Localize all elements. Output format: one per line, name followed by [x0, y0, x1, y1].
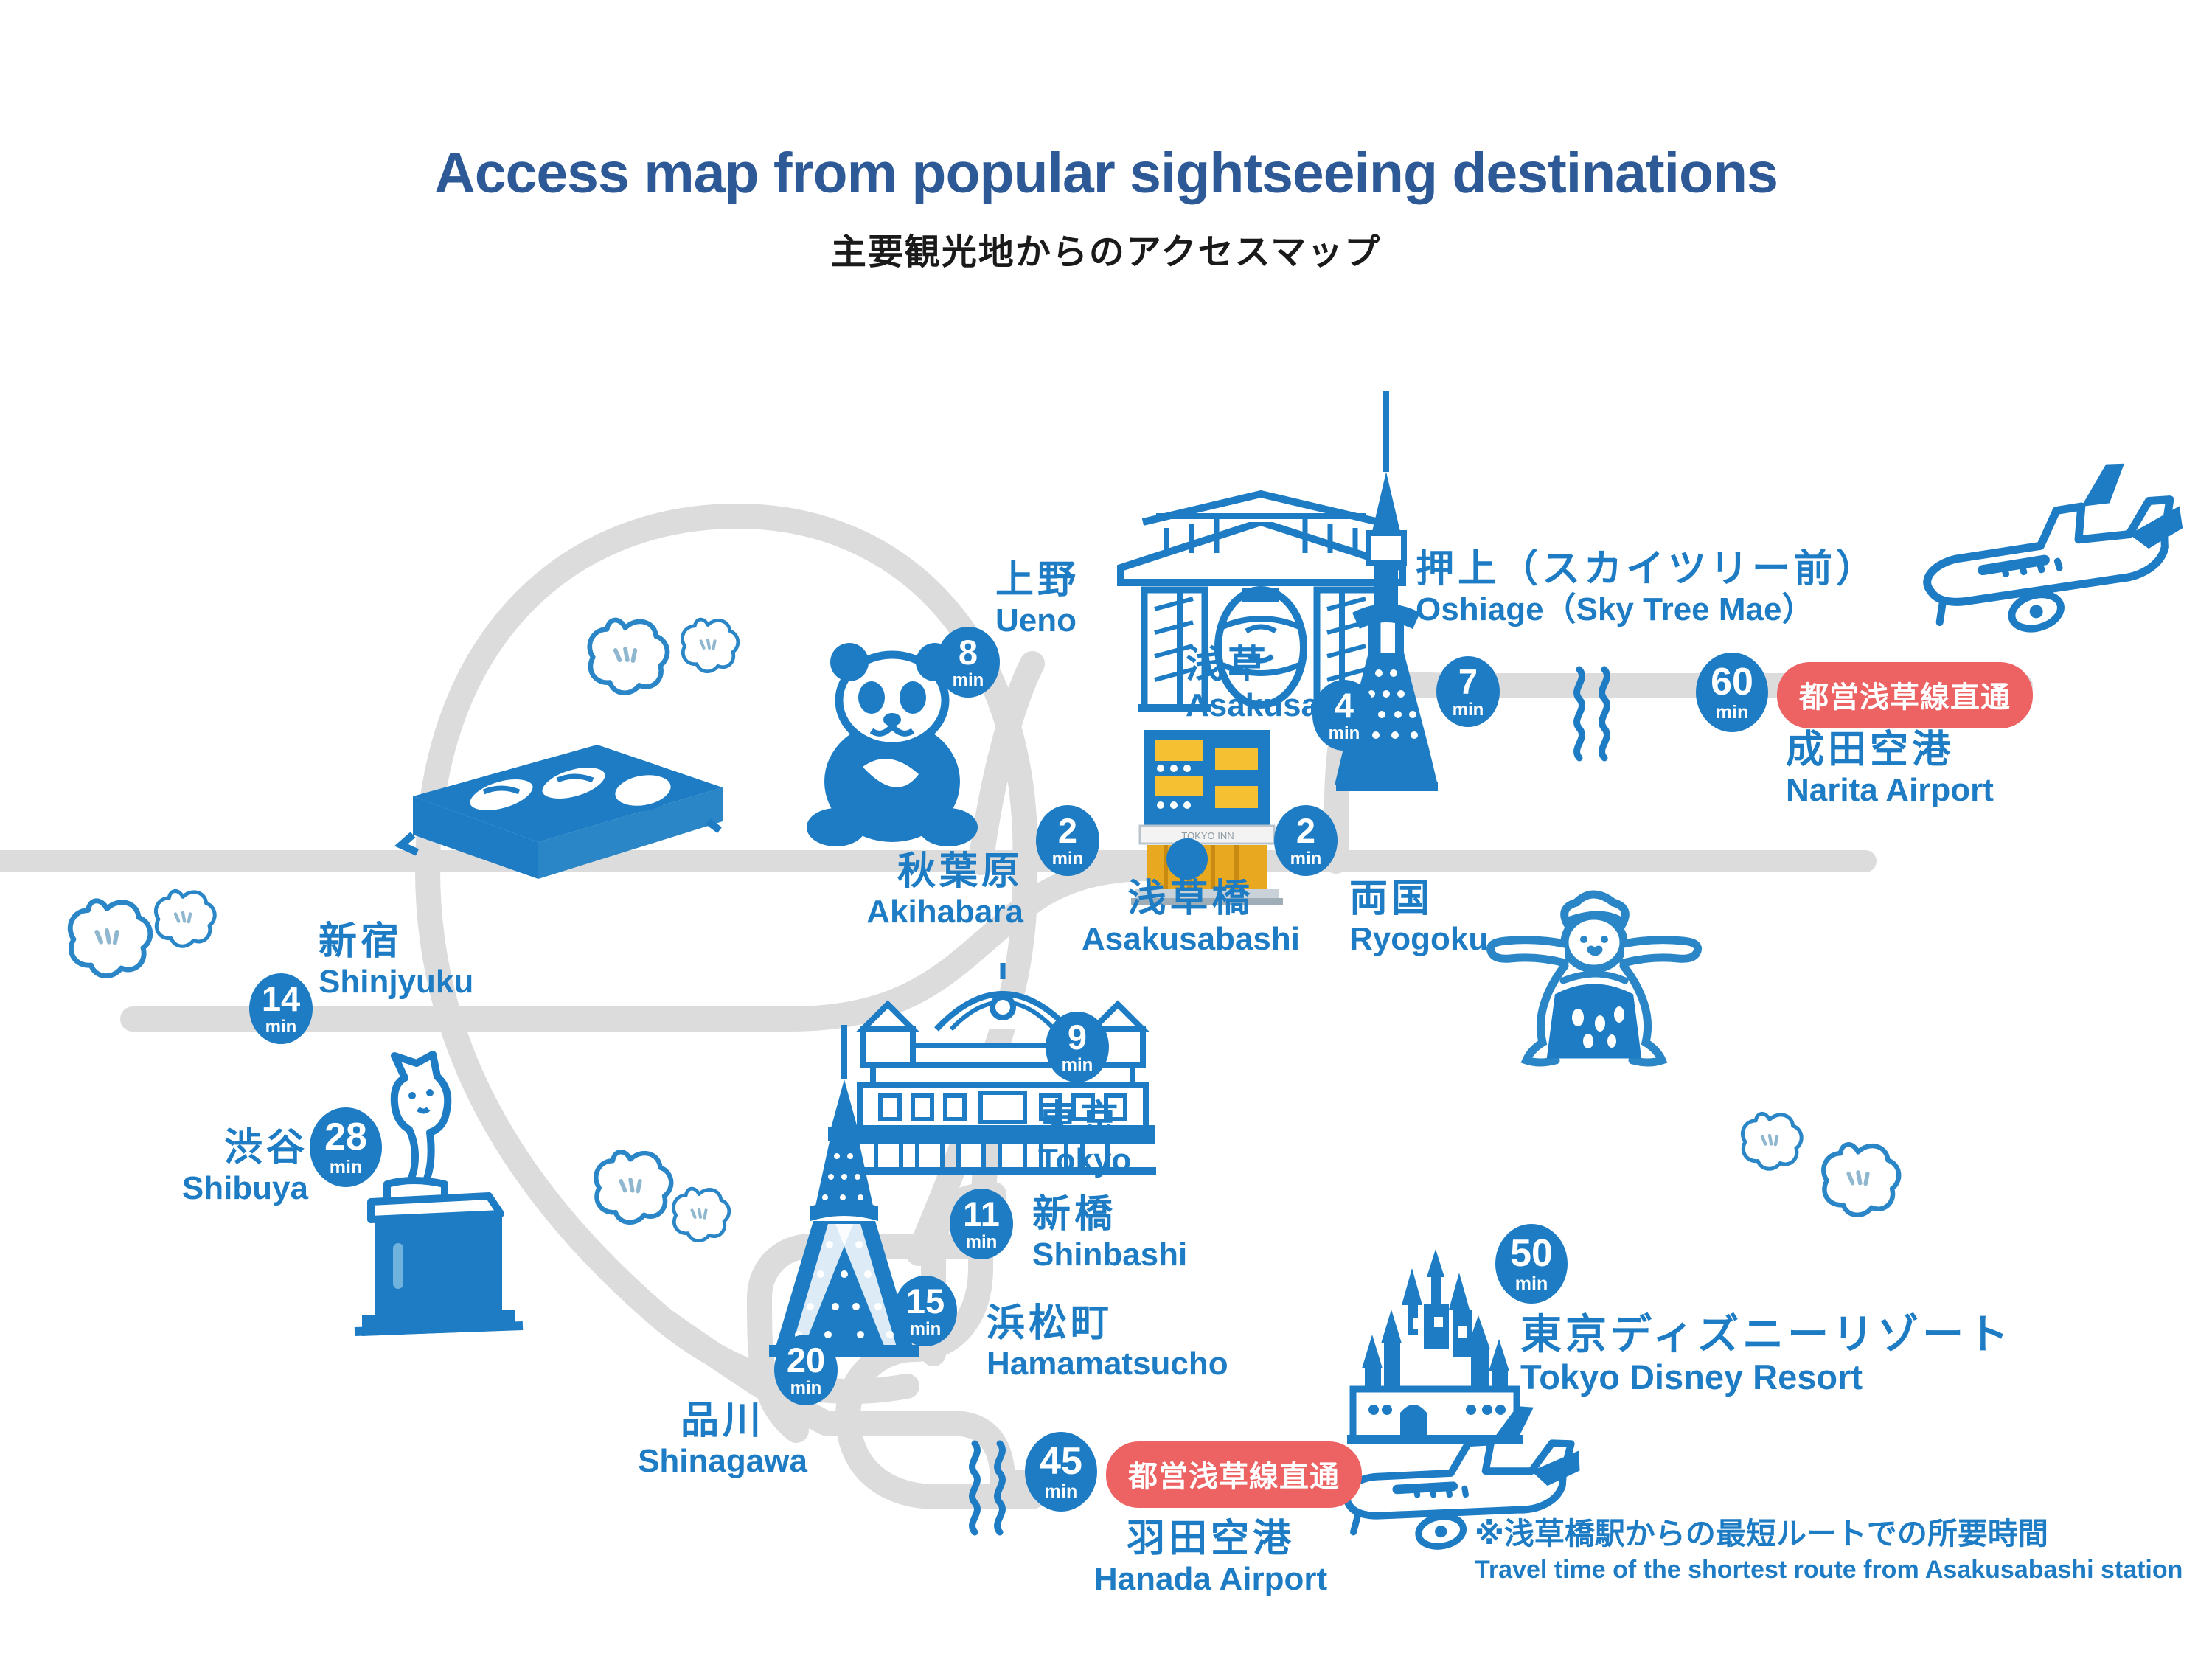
station-label-haneda[interactable]: 羽田空港 Hanada Airport: [1063, 1519, 1358, 1597]
time-badge-unit: min: [1290, 850, 1322, 868]
station-jp-name: 押上（スカイツリー前）: [1416, 549, 1878, 590]
station-label-ryogoku[interactable]: 両国 Ryogoku: [1349, 879, 1488, 957]
station-en-name: Ueno: [995, 604, 1079, 639]
station-en-name: Asakusa: [1186, 689, 1319, 723]
time-badge-shinjyuku[interactable]: 14 min: [249, 973, 313, 1044]
station-label-asakusa[interactable]: 浅草 Asakusa: [1186, 645, 1319, 723]
time-badge-shinagawa[interactable]: 20 min: [774, 1335, 838, 1405]
time-badge-unit: min: [1329, 725, 1360, 742]
time-badge-value: 7: [1458, 664, 1478, 699]
station-en-name: Shinjyuku: [319, 965, 473, 1000]
time-badge-value: 4: [1335, 688, 1354, 723]
time-badge-akihabara[interactable]: 2 min: [1036, 805, 1099, 876]
station-label-shinagawa[interactable]: 品川 Shinagawa: [612, 1401, 833, 1479]
station-en-name: Hanada Airport: [1063, 1562, 1358, 1597]
time-badge-asakusa[interactable]: 4 min: [1312, 680, 1376, 751]
time-badge-value: 2: [1058, 813, 1077, 848]
station-label-shinjyuku[interactable]: 新宿 Shinjyuku: [319, 922, 473, 1000]
disney-castle-icon: [1347, 1249, 1523, 1444]
station-label-shinbashi[interactable]: 新橋 Shinbashi: [1032, 1194, 1187, 1273]
time-badge-unit: min: [265, 1018, 297, 1036]
station-en-name: Tokyo Disney Resort: [1520, 1359, 2012, 1396]
time-badge-unit: min: [330, 1158, 362, 1177]
time-badge-unit: min: [1062, 1057, 1093, 1074]
time-badge-value: 9: [1068, 1020, 1087, 1054]
station-jp-name: 上野: [995, 560, 1079, 601]
station-jp-name: 東京: [1038, 1100, 1131, 1141]
airplane-icon: [1909, 448, 2201, 654]
station-en-name: Shinbashi: [1032, 1238, 1187, 1273]
station-jp-name: 新橋: [1032, 1194, 1187, 1235]
station-en-name: Shinagawa: [612, 1444, 833, 1479]
time-badge-shinbashi[interactable]: 11 min: [950, 1189, 1013, 1259]
time-badge-unit: min: [910, 1321, 942, 1338]
station-jp-name: 秋葉原: [767, 852, 1023, 892]
station-jp-name: 浅草橋: [1069, 879, 1312, 919]
sumo-wrestler-icon: [1490, 894, 1697, 1062]
time-badge-unit: min: [1045, 1483, 1077, 1501]
station-en-name: Hamamatsucho: [987, 1347, 1228, 1382]
station-jp-name: 東京ディズニーリゾート: [1520, 1312, 2012, 1356]
time-badge-ryogoku[interactable]: 2 min: [1274, 805, 1338, 876]
time-badge-shibuya[interactable]: 28 min: [310, 1107, 382, 1187]
time-badge-value: 50: [1510, 1234, 1553, 1273]
station-en-name: Narita Airport: [1786, 773, 1994, 808]
time-badge-unit: min: [1453, 701, 1484, 719]
hachiko-statue-icon: [355, 1054, 523, 1336]
station-jp-name: 品川: [612, 1401, 833, 1441]
station-dot-icon: [1166, 838, 1208, 880]
direct-line-badge-narita[interactable]: 都営浅草線直通: [1777, 662, 2033, 728]
time-badge-disney[interactable]: 50 min: [1495, 1224, 1568, 1304]
station-jp-name: 浜松町: [987, 1304, 1228, 1344]
station-en-name: Tokyo: [1038, 1144, 1131, 1178]
station-label-oshiage[interactable]: 押上（スカイツリー前） Oshiage（Sky Tree Mae）: [1416, 549, 1878, 627]
footnote: ※浅草橋駅からの最短ルートでの所要時間 Travel time of the s…: [1475, 1517, 2183, 1584]
time-badge-value: 11: [963, 1197, 1000, 1231]
time-badge-value: 28: [324, 1118, 367, 1156]
time-badge-unit: min: [790, 1380, 822, 1397]
time-badge-value: 2: [1296, 813, 1315, 848]
station-jp-name: 成田空港: [1786, 730, 1994, 771]
station-label-disney[interactable]: 東京ディズニーリゾート Tokyo Disney Resort: [1520, 1312, 2012, 1396]
time-badge-value: 20: [787, 1343, 825, 1377]
footnote-jp: ※浅草橋駅からの最短ルートでの所要時間: [1475, 1517, 2183, 1551]
time-badge-value: 14: [262, 981, 300, 1016]
time-badge-unit: min: [953, 672, 984, 689]
station-label-ueno[interactable]: 上野 Ueno: [995, 560, 1079, 639]
time-badge-narita[interactable]: 60 min: [1696, 653, 1768, 732]
station-label-asakusabashi[interactable]: 浅草橋 Asakusabashi: [1069, 879, 1312, 957]
station-label-hamamatsucho[interactable]: 浜松町 Hamamatsucho: [987, 1304, 1228, 1382]
time-badge-unit: min: [1515, 1275, 1548, 1293]
station-en-name: Oshiage（Sky Tree Mae）: [1416, 593, 1878, 627]
station-label-narita[interactable]: 成田空港 Narita Airport: [1786, 730, 1994, 808]
direct-line-badge-haneda[interactable]: 都営浅草線直通: [1106, 1441, 1362, 1508]
station-label-akihabara[interactable]: 秋葉原 Akihabara: [767, 852, 1023, 930]
station-en-name: Asakusabashi: [1069, 922, 1312, 957]
time-badge-value: 15: [906, 1284, 945, 1318]
station-en-name: Ryogoku: [1349, 922, 1488, 957]
time-badge-ueno[interactable]: 8 min: [936, 627, 1000, 698]
time-badge-hamamatsucho[interactable]: 15 min: [894, 1276, 957, 1346]
access-map-page: Access map from popular sightseeing dest…: [0, 0, 2212, 1659]
time-badge-value: 8: [959, 635, 978, 669]
map-canvas: TOKYO INN: [0, 0, 2212, 1659]
time-badge-unit: min: [1716, 703, 1748, 722]
time-badge-unit: min: [966, 1234, 998, 1251]
station-label-tokyo[interactable]: 東京 Tokyo: [1038, 1100, 1131, 1178]
time-badge-oshiage[interactable]: 7 min: [1436, 656, 1500, 727]
station-label-shibuya[interactable]: 渋谷 Shibuya: [111, 1128, 308, 1206]
station-jp-name: 浅草: [1186, 645, 1319, 686]
station-en-name: Shibuya: [111, 1172, 308, 1206]
time-badge-tokyo[interactable]: 9 min: [1046, 1012, 1109, 1082]
time-badge-value: 60: [1711, 663, 1753, 701]
station-jp-name: 両国: [1349, 879, 1488, 919]
time-badge-unit: min: [1052, 850, 1084, 868]
station-en-name: Akihabara: [767, 895, 1023, 930]
station-jp-name: 渋谷: [111, 1128, 308, 1169]
station-jp-name: 羽田空港: [1063, 1519, 1358, 1559]
time-badge-haneda[interactable]: 45 min: [1025, 1432, 1097, 1512]
station-jp-name: 新宿: [319, 922, 473, 962]
footnote-en: Travel time of the shortest route from A…: [1475, 1556, 2183, 1584]
time-badge-value: 45: [1040, 1442, 1082, 1481]
